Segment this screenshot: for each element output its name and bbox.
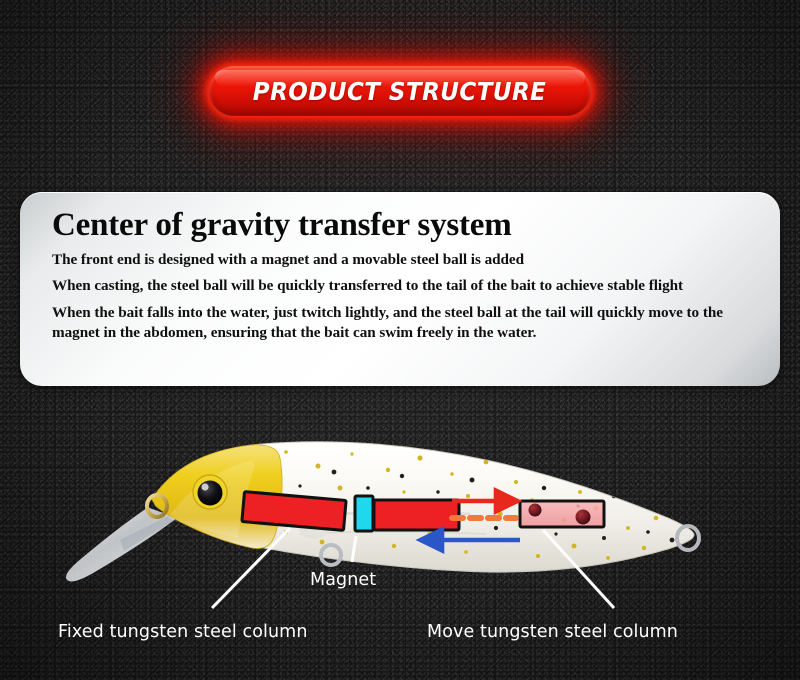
panel-paragraph-3: When the bait falls into the water, just… — [52, 303, 750, 343]
lure-diving-lip — [66, 508, 176, 581]
label-move-tungsten-steel-column: Move tungsten steel column — [427, 622, 678, 642]
label-magnet: Magnet — [310, 570, 376, 590]
eye-glint — [201, 483, 208, 490]
lure-eye-pupil — [198, 481, 223, 506]
banner-title-text: PRODUCT STRUCTURE — [253, 77, 547, 106]
title-banner: PRODUCT STRUCTURE — [0, 66, 800, 116]
tungsten-column-marker-secondary — [374, 500, 459, 530]
label-fixed-tungsten-steel-column: Fixed tungsten steel column — [58, 622, 308, 642]
banner-pill: PRODUCT STRUCTURE — [209, 66, 591, 116]
panel-paragraph-2: When casting, the steel ball will be qui… — [52, 276, 750, 296]
panel-paragraph-1: The front end is designed with a magnet … — [52, 250, 750, 270]
lure-diagram — [0, 400, 800, 600]
page-title: Center of gravity transfer system — [52, 208, 750, 244]
magnet-marker — [355, 496, 373, 531]
lure-illustration — [0, 400, 800, 660]
steel-ball-2 — [576, 510, 591, 525]
steel-ball-1 — [529, 504, 542, 517]
info-panel: Center of gravity transfer system The fr… — [20, 192, 780, 386]
